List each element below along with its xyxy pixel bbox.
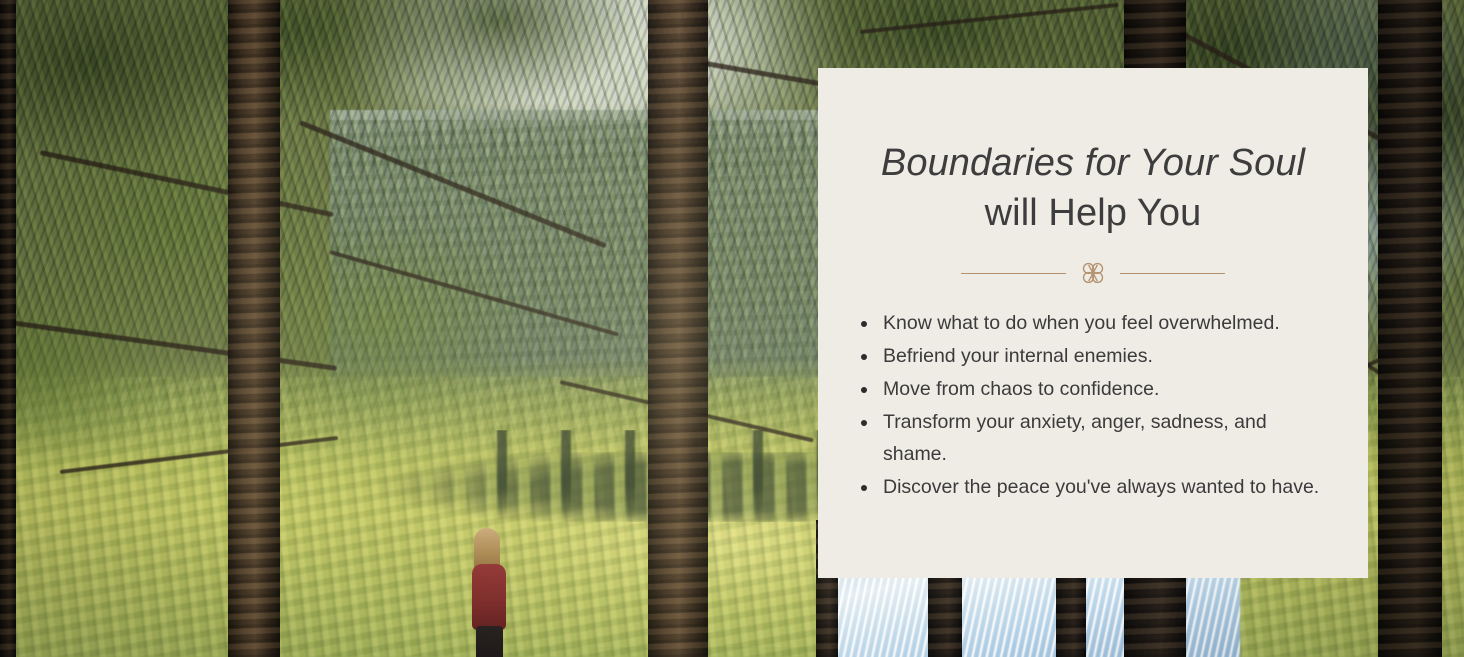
list-item: Transform your anxiety, anger, sadness, … bbox=[858, 407, 1328, 471]
page-title: Boundaries for Your Soul will Help You bbox=[858, 68, 1328, 238]
divider-rule-right bbox=[1120, 273, 1225, 274]
foreground-trunk bbox=[228, 0, 280, 657]
foreground-trunk bbox=[0, 0, 16, 657]
list-item: Know what to do when you feel overwhelme… bbox=[858, 308, 1328, 340]
list-item: Befriend your internal enemies. bbox=[858, 341, 1328, 373]
foreground-trunk bbox=[1378, 0, 1442, 657]
foreground-trunk bbox=[648, 0, 708, 657]
benefits-list: Know what to do when you feel overwhelme… bbox=[858, 308, 1328, 504]
person-red-shirt bbox=[472, 564, 506, 630]
person-in-meadow bbox=[474, 528, 508, 657]
page-title-rest: will Help You bbox=[858, 188, 1328, 238]
page-title-emphasis: Boundaries for Your Soul bbox=[858, 138, 1328, 188]
divider-rule-left bbox=[961, 273, 1066, 274]
person-dark-pants bbox=[476, 626, 503, 657]
list-item: Move from chaos to confidence. bbox=[858, 374, 1328, 406]
benefits-panel: Boundaries for Your Soul will Help You bbox=[818, 68, 1368, 578]
clover-knot-ornament-icon bbox=[1080, 260, 1106, 286]
list-item: Discover the peace you've always wanted … bbox=[858, 472, 1328, 504]
page-root: Boundaries for Your Soul will Help You bbox=[0, 0, 1464, 657]
ornamental-divider bbox=[858, 260, 1328, 286]
